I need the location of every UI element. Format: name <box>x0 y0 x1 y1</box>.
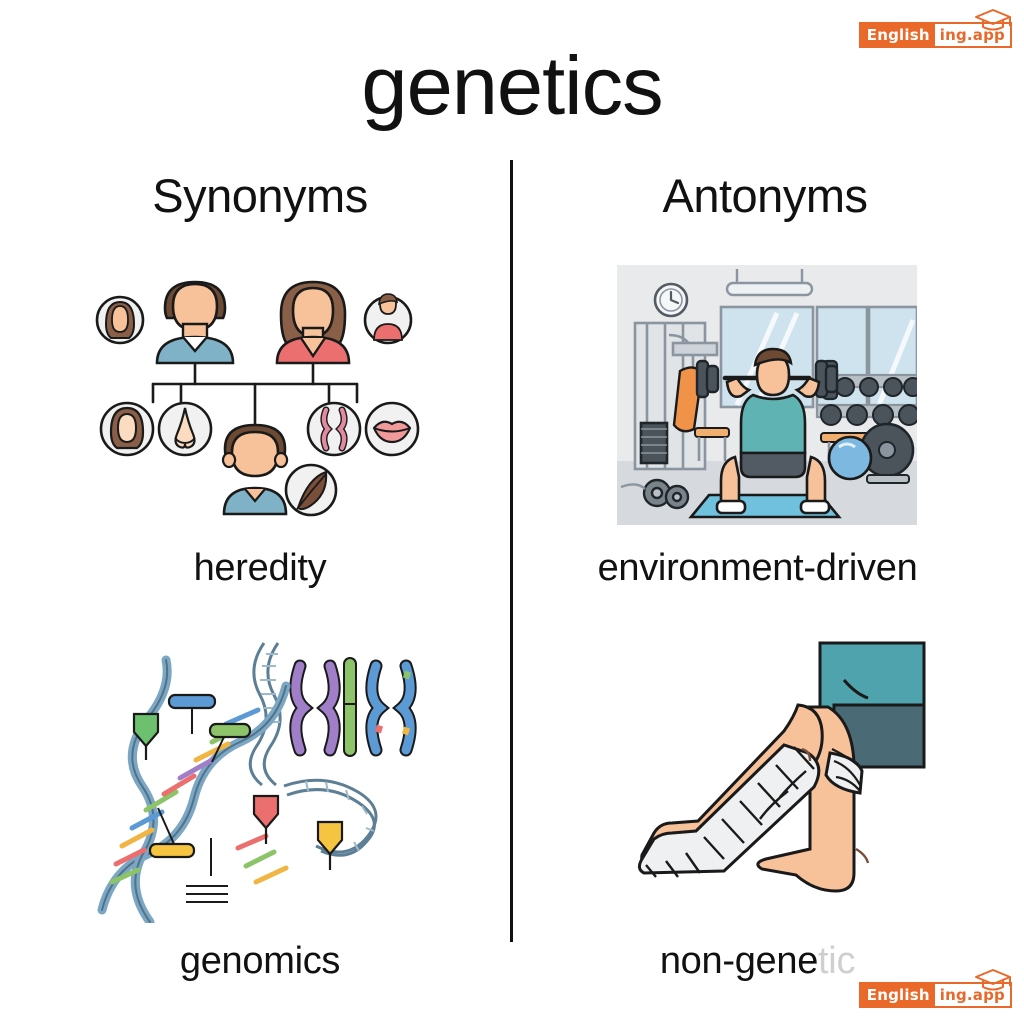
page-title: genetics <box>0 38 1024 134</box>
antonyms-header: Antonyms <box>565 168 965 223</box>
brand-logo-top[interactable]: English ing.app <box>859 22 1012 48</box>
caption-non-genetic-main: non-gene <box>660 940 818 982</box>
nose-trait-circle <box>159 403 211 455</box>
caption-genomics: genomics <box>60 940 460 983</box>
label-bar-blue <box>169 695 215 708</box>
chromosome-blue <box>372 666 410 750</box>
grandmother-circle <box>97 297 143 343</box>
caption-heredity: heredity <box>60 547 460 590</box>
graduation-cap-icon <box>972 967 1014 993</box>
marker-pin-red <box>254 796 278 844</box>
bandaged-leg-illustration <box>612 635 932 935</box>
brand-part-one: English <box>861 24 935 46</box>
caption-non-genetic: non-genetic <box>520 940 995 983</box>
wall-clock <box>655 284 687 316</box>
caption-lines <box>186 886 228 902</box>
father-avatar <box>157 282 233 363</box>
chromosome-green <box>344 664 356 750</box>
grandchild-circle <box>365 294 411 343</box>
caption-environment-driven: environment-driven <box>520 547 995 590</box>
brand-part-one: English <box>861 984 935 1006</box>
poster-canvas: English ing.app genetics Synonyms Antony… <box>0 0 1024 1024</box>
gym-workout-illustration <box>617 265 917 525</box>
bench-seat-left <box>695 428 729 437</box>
marker-pin-yellow <box>318 822 342 870</box>
child-avatar <box>223 425 287 514</box>
marker-pin-green <box>134 714 158 760</box>
feather-trait-circle <box>286 465 336 515</box>
lips-trait-circle <box>366 403 418 455</box>
dna-genome-illustration <box>88 638 428 923</box>
synonyms-header: Synonyms <box>60 168 460 223</box>
caption-non-genetic-fade: tic <box>818 940 855 982</box>
label-bar-green <box>210 724 250 737</box>
brand-logo-bottom[interactable]: English ing.app <box>859 982 1012 1008</box>
chromosome-purple <box>296 666 334 750</box>
family-tree-illustration <box>95 262 425 527</box>
graduation-cap-icon <box>972 7 1014 33</box>
column-divider <box>510 160 513 942</box>
chromosome-trait-circle <box>308 403 360 455</box>
label-bar-yellow <box>150 844 194 857</box>
mother-avatar <box>277 282 349 363</box>
face-trait-circle <box>101 403 153 455</box>
